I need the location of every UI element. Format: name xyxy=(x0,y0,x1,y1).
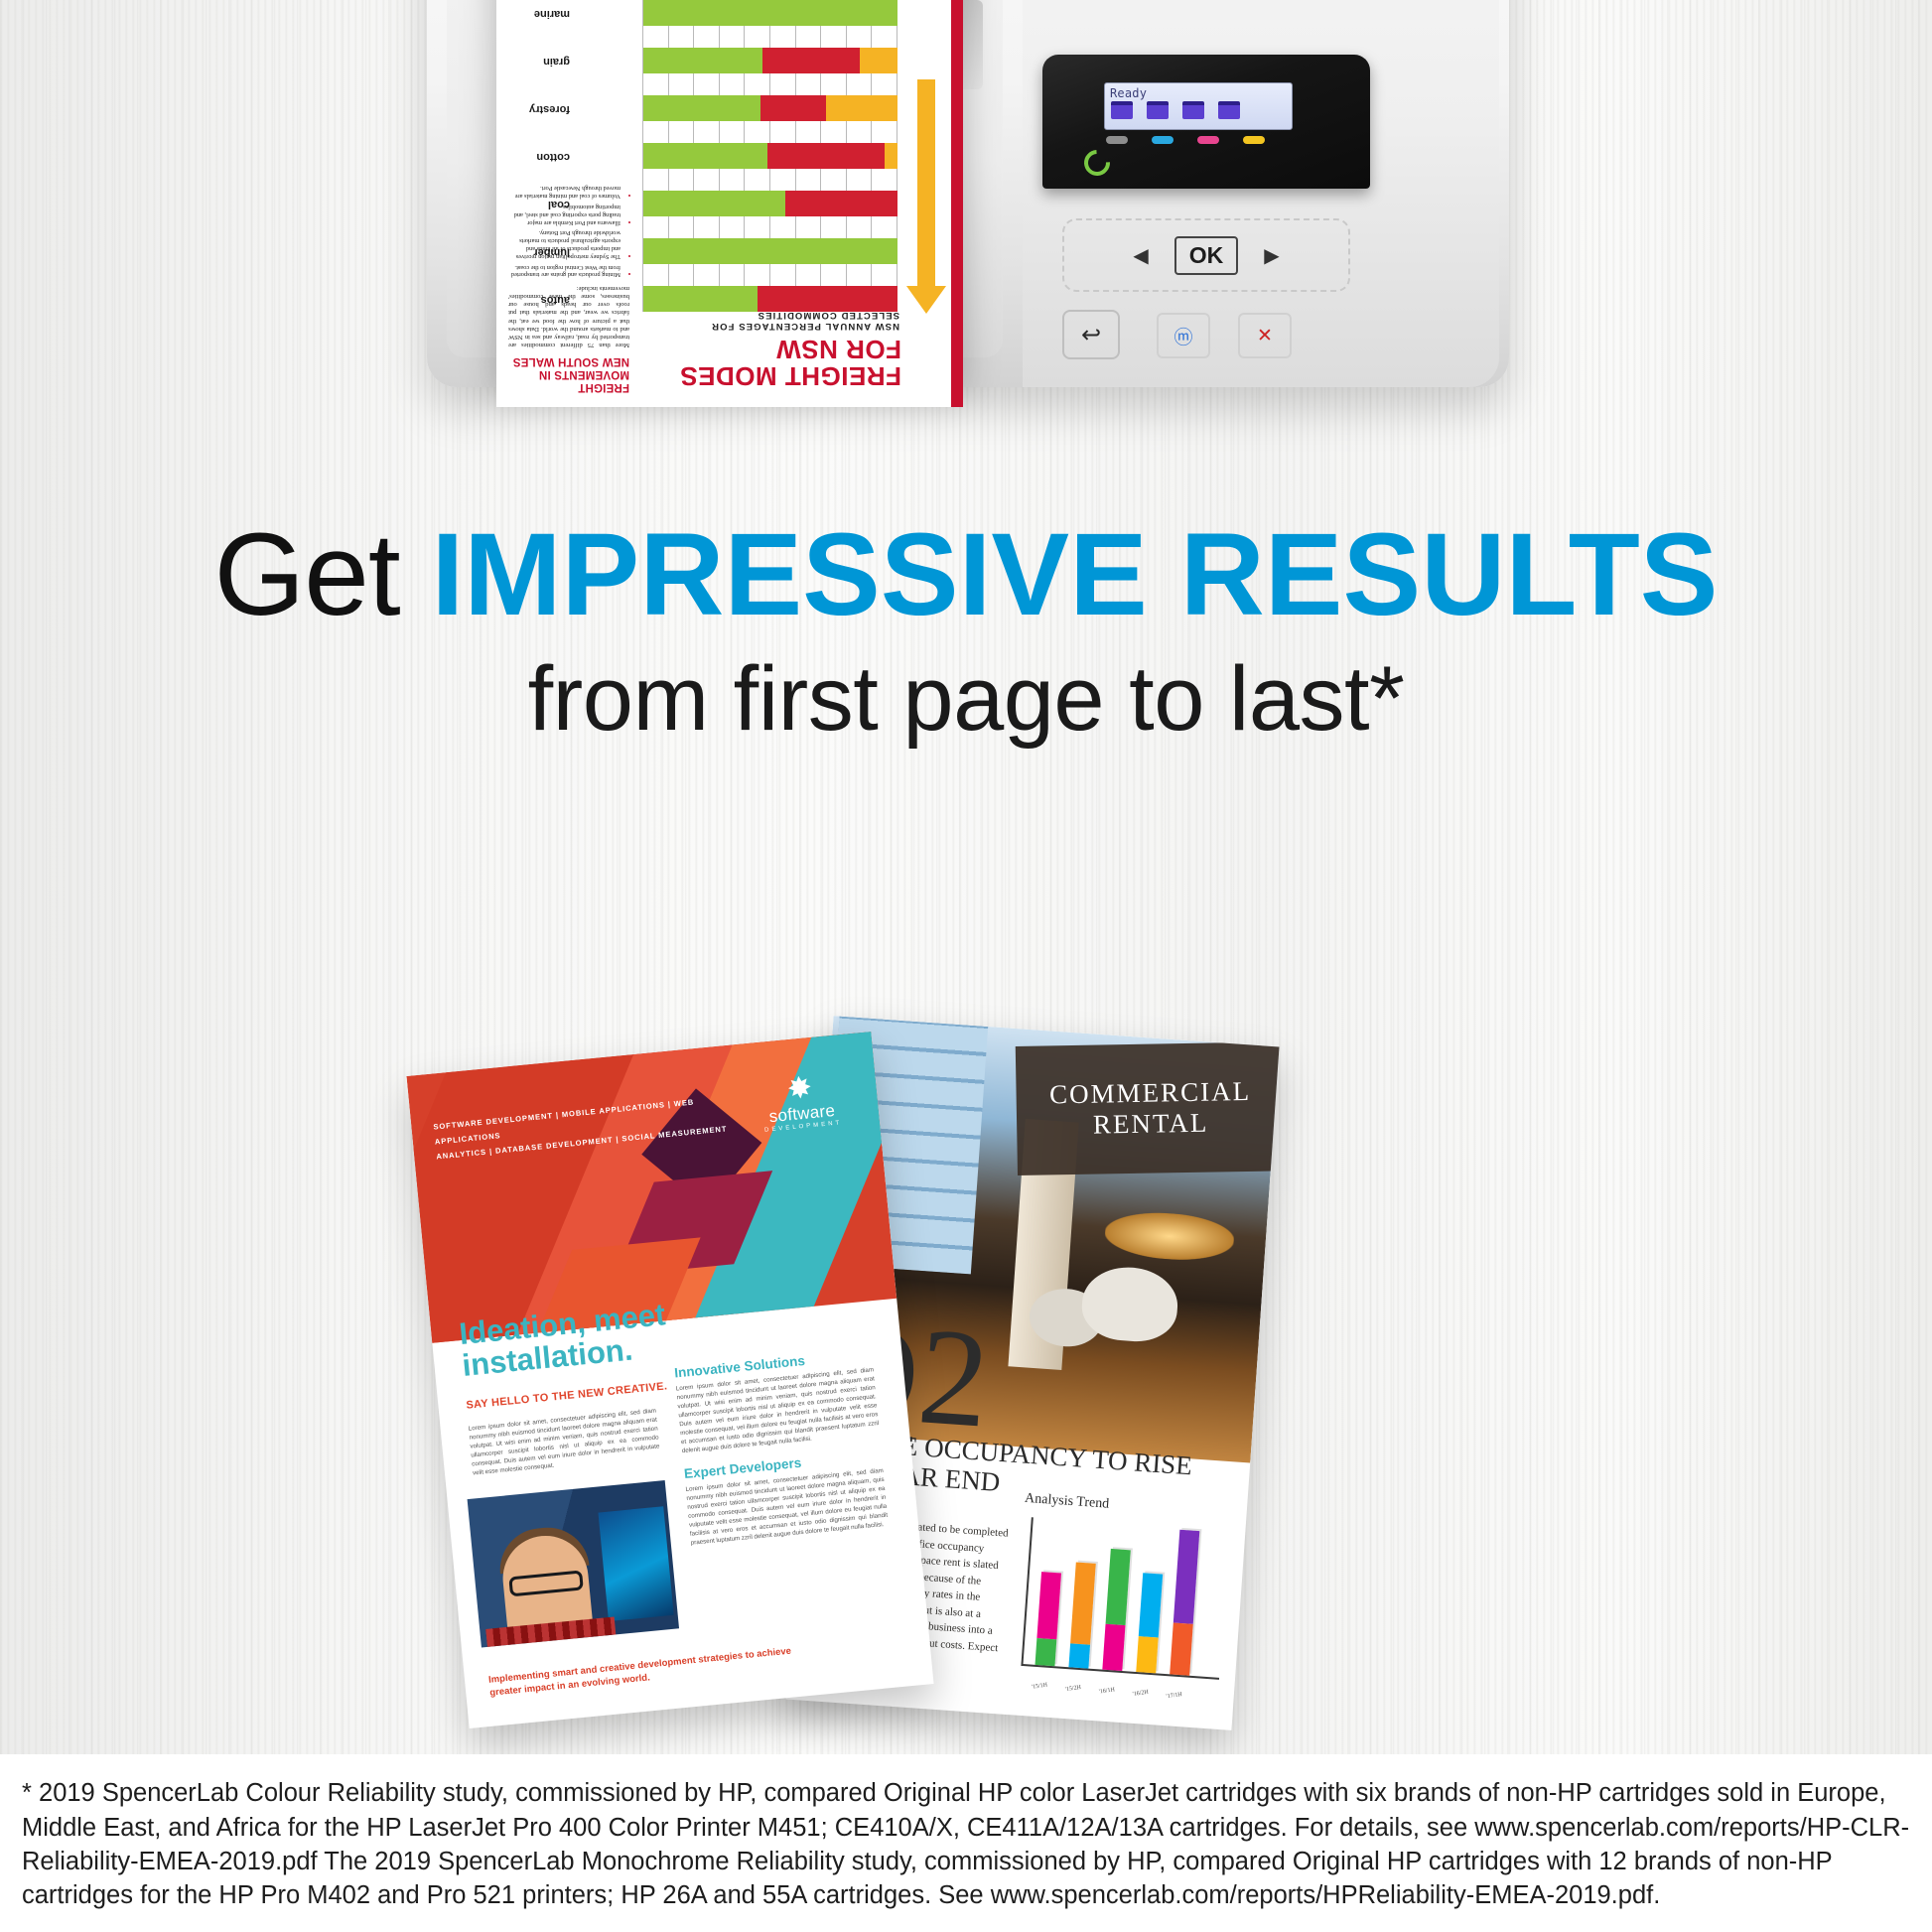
chart-y-axis xyxy=(1021,1517,1033,1666)
analysis-chart-tick-label: '15/1H xyxy=(1032,1682,1052,1691)
article-bullet: Illawarra and Port Kembla are major trad… xyxy=(508,203,621,225)
printed-article: FREIGHT MOVEMENTS IN NEW SOUTH WALES Mor… xyxy=(508,182,629,393)
chart-category-label: marine xyxy=(534,8,570,20)
chart-bar-segment xyxy=(643,95,760,121)
chart-bar-segment xyxy=(885,143,897,169)
cancel-button[interactable]: ✕ xyxy=(1238,313,1292,358)
banner-line-1: COMMERCIAL xyxy=(1049,1076,1252,1111)
chart-bar-segment xyxy=(643,0,897,26)
chart-category-label: cotton xyxy=(536,151,570,163)
article-title: FREIGHT MOVEMENTS IN NEW SOUTH WALES xyxy=(508,354,629,393)
analysis-bar-segment xyxy=(1035,1638,1057,1667)
up-arrow-graphic xyxy=(917,79,935,288)
rental-banner: COMMERCIAL RENTAL xyxy=(1016,1041,1280,1175)
article-body: More than 75 different commodities are t… xyxy=(508,284,629,349)
legal-footnote: * 2019 SpencerLab Colour Reliability stu… xyxy=(0,1754,1932,1932)
sub-headline: from first page to last* xyxy=(0,651,1932,748)
software-right-column: Innovative Solutions Lorem ipsum dolor s… xyxy=(674,1346,890,1548)
analysis-chart-tick-label: '16/2H xyxy=(1132,1689,1153,1698)
power-icon[interactable] xyxy=(1079,145,1116,182)
analysis-chart-bar xyxy=(1136,1573,1163,1673)
chart-bar-row xyxy=(643,238,897,264)
toner-gauge-yellow xyxy=(1218,101,1240,119)
ink-dot-magenta xyxy=(1197,136,1219,144)
analysis-bar-segment xyxy=(1173,1530,1200,1624)
chart-x-tick-labels: '15/1H'15/2H'16/1H'16/2H'17/1H xyxy=(1032,1683,1220,1702)
chart-bars xyxy=(1035,1514,1228,1677)
chart-bar-segment xyxy=(762,48,859,73)
analysis-chart-tick-label: '15/2H xyxy=(1065,1684,1086,1693)
toner-gauge-black xyxy=(1111,101,1133,119)
analysis-bar-segment xyxy=(1170,1623,1193,1676)
main-headline: Get IMPRESSIVE RESULTS xyxy=(0,516,1932,633)
printer-mini-buttons[interactable]: ⓜ ✕ xyxy=(1157,313,1292,358)
analysis-bar-segment xyxy=(1139,1573,1163,1637)
chart-bar-segment xyxy=(643,238,897,264)
ink-dot-yellow xyxy=(1243,136,1265,144)
developer-photo xyxy=(468,1480,679,1647)
chart-bar-row xyxy=(643,191,897,216)
printer-lcd-display: Ready xyxy=(1104,82,1293,130)
printed-chart-title: FREIGHT MODES FOR NSW xyxy=(653,337,901,389)
analysis-bar-segment xyxy=(1106,1549,1131,1625)
chart-bar-segment xyxy=(785,191,897,216)
chart-bar-segment xyxy=(760,95,827,121)
headline-emphasis: IMPRESSIVE RESULTS xyxy=(431,509,1718,640)
chart-bar-row xyxy=(643,143,897,169)
chart-bar-segment xyxy=(860,48,897,73)
monitor-graphic xyxy=(598,1506,673,1621)
chart-bar-row xyxy=(643,286,897,312)
printer-control-panel[interactable]: Ready xyxy=(1042,55,1370,189)
arrow-left-icon[interactable]: ◀ xyxy=(1133,243,1148,268)
ink-color-legend xyxy=(1106,136,1265,144)
chart-bar-row xyxy=(643,0,897,26)
brochure-group: COMMERCIAL RENTAL Q2 OFFICE OCCUPANCY TO… xyxy=(0,1013,1932,1767)
ink-dot-cyan xyxy=(1152,136,1173,144)
printed-chart-subtitle: NSW ANNUAL PERCENTAGES FOR SELECTED COMM… xyxy=(651,310,899,332)
toner-level-indicators xyxy=(1111,101,1240,119)
analysis-chart-bar xyxy=(1102,1549,1130,1671)
analysis-chart-bar xyxy=(1170,1530,1199,1676)
wireless-button[interactable]: ⓜ xyxy=(1157,313,1210,358)
chart-bar-segment xyxy=(643,191,785,216)
ink-dot-black xyxy=(1106,136,1128,144)
headline-block: Get IMPRESSIVE RESULTS from first page t… xyxy=(0,516,1932,748)
freight-bar-chart: 100%90%80%70%60%50%40%30%20%10%0autoslum… xyxy=(643,0,897,312)
software-logo: ✸ software DEVELOPMENT xyxy=(744,1069,858,1135)
chart-category-label: forestry xyxy=(529,103,570,115)
analysis-bar-segment xyxy=(1136,1636,1158,1674)
analysis-chart-bar xyxy=(1068,1562,1095,1669)
article-bullet: Mining products and grains are transport… xyxy=(508,263,621,279)
analysis-chart-bar xyxy=(1035,1572,1062,1666)
chart-bar-row xyxy=(643,95,897,121)
software-footer-text: Implementing smart and creative developm… xyxy=(488,1644,817,1701)
article-bullet: The Sydney metropolitan region receives … xyxy=(508,229,621,260)
banner-line-2: RENTAL xyxy=(1093,1108,1209,1141)
toner-gauge-cyan xyxy=(1147,101,1169,119)
section-body-experts: Lorem ipsum dolor sit amet, consectetuer… xyxy=(685,1467,889,1549)
article-bullet-list: Mining products and grains are transport… xyxy=(508,185,629,279)
section-body-innovative: Lorem ipsum dolor sit amet, consectetuer… xyxy=(676,1366,881,1456)
analysis-chart-tick-label: '17/1H xyxy=(1166,1692,1186,1701)
chart-bar-segment xyxy=(643,143,767,169)
chart-bar-segment xyxy=(643,286,758,312)
footnote-text: * 2019 SpencerLab Colour Reliability stu… xyxy=(22,1776,1910,1912)
back-button[interactable]: ↩ xyxy=(1062,310,1120,359)
software-body-left: Lorem ipsum dolor sit amet, consectetuer… xyxy=(468,1408,660,1479)
analysis-bar-segment xyxy=(1068,1643,1090,1669)
chart-bar-segment xyxy=(643,48,762,73)
analysis-chart-tick-label: '16/1H xyxy=(1099,1687,1120,1696)
analysis-bar-segment xyxy=(1070,1562,1096,1644)
printed-output-page: FREIGHT MODES FOR NSW NSW ANNUAL PERCENT… xyxy=(496,0,963,407)
ceiling-light-glow xyxy=(1103,1209,1235,1264)
chart-bar-row xyxy=(643,48,897,73)
analysis-trend-chart: Analysis Trend '15/1H'15/2H'16/1H'16/2H'… xyxy=(1011,1491,1233,1714)
brochure-banner-graphic: SOFTWARE DEVELOPMENT | MOBILE APPLICATIO… xyxy=(406,1032,897,1343)
software-kicker: SAY HELLO TO THE NEW CREATIVE. xyxy=(466,1380,668,1411)
chart-category-label: grain xyxy=(543,56,570,68)
page-background: Ready ◀ OK xyxy=(0,0,1932,1932)
brochure-software-development: SOFTWARE DEVELOPMENT | MOBILE APPLICATIO… xyxy=(406,1032,933,1728)
analysis-bar-segment xyxy=(1036,1572,1061,1639)
toner-gauge-magenta xyxy=(1182,101,1204,119)
chart-bar-segment xyxy=(826,95,897,121)
chart-bar-segment xyxy=(758,286,897,312)
printer-scene: Ready ◀ OK xyxy=(0,0,1932,467)
article-bullet: Volumes of coal and mining materials are… xyxy=(508,185,621,201)
lcd-status-text: Ready xyxy=(1110,86,1287,100)
software-left-column: Lorem ipsum dolor sit amet, consectetuer… xyxy=(468,1408,660,1479)
analysis-bar-segment xyxy=(1102,1624,1125,1671)
headline-lead: Get xyxy=(213,509,431,640)
arrow-right-icon[interactable]: ▶ xyxy=(1264,243,1279,268)
chart-bar-segment xyxy=(767,143,885,169)
printer-navigation-pad[interactable]: ◀ OK ▶ xyxy=(1062,218,1350,292)
ok-button[interactable]: OK xyxy=(1174,236,1239,275)
